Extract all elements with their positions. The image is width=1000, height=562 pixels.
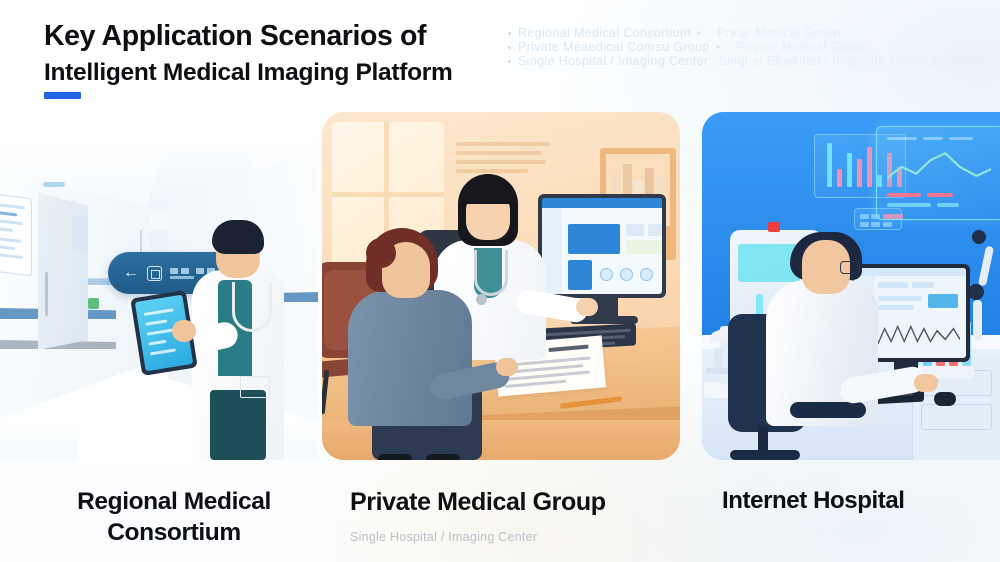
caption-private-medical-group: Private Medical Group Single Hospital / … [350, 486, 680, 544]
consultation-illustration [322, 112, 680, 460]
patient-figure [330, 216, 498, 460]
chair-base [730, 450, 800, 460]
ghost-line-1-secondary: Prvae Medical Group [717, 26, 841, 40]
caption-title-line2: Consortium [44, 517, 304, 548]
lab-technician [728, 212, 902, 460]
desktop-monitor [538, 194, 666, 298]
scenario-panels: ← + → [0, 112, 1000, 460]
ghost-line-1: Regional Medical Consortium • Prvae Medi… [508, 26, 978, 40]
corridor-door [38, 186, 88, 350]
department-sign-icon [147, 266, 162, 281]
microscope-objective-icon [714, 348, 723, 368]
page-title-line2: Intelligent Medical Imaging Platform [44, 59, 452, 88]
computer-mouse [934, 392, 956, 406]
ghost-line-1-primary: Regional Medical Consortium [518, 26, 691, 40]
doctor-with-tablet [170, 208, 306, 460]
bullet-icon [508, 46, 511, 49]
doctor-trousers [210, 390, 266, 460]
page-title: Key Application Scenarios of Intelligent… [44, 20, 452, 88]
arrow-left-icon: ← [123, 264, 139, 282]
ghost-line-2-primary: Private Méaedical Conrsu Group [518, 40, 710, 54]
coat-pocket [240, 376, 270, 398]
app-header-bar [542, 198, 662, 208]
wall-display-screen [0, 194, 32, 277]
wall-analytics-display [876, 126, 1000, 220]
dashboard-icon [600, 268, 613, 281]
line-chart-icon [887, 151, 991, 185]
panel-regional-medical-consortium[interactable]: ← + → [0, 112, 318, 460]
panel-captions: Regional Medical Consortium Private Medi… [0, 460, 1000, 562]
caption-title: Private Medical Group [350, 486, 680, 518]
caption-title: Internet Hospital [722, 486, 1000, 517]
wall-info-card [72, 215, 88, 251]
ghost-separator-icon: • [697, 26, 701, 40]
dashboard-icon [640, 268, 653, 281]
stethoscope-icon [232, 282, 272, 332]
highlight-chip [928, 294, 958, 308]
title-accent-bar [44, 92, 81, 99]
exit-sign-icon [88, 298, 99, 309]
door-lamp-icon [43, 182, 65, 187]
header: Key Application Scenarios of Intelligent… [0, 0, 1000, 112]
page-title-line1: Key Application Scenarios of [44, 20, 452, 54]
header-ghost-text: Regional Medical Consortium • Prvae Medi… [508, 26, 978, 68]
patient-hand [496, 358, 518, 376]
laboratory-illustration [702, 112, 1000, 460]
caption-subtitle: Single Hospital / Imaging Center [350, 530, 680, 544]
panel-internet-hospital[interactable] [702, 112, 1000, 460]
panel-private-medical-group[interactable] [322, 112, 680, 460]
patient-torso [348, 290, 472, 426]
caption-internet-hospital: Internet Hospital [722, 486, 1000, 517]
chair-armrest [790, 402, 866, 418]
ghost-separator-icon: • [716, 40, 720, 54]
ghost-line-2-secondary: Private Medical Group [736, 40, 867, 54]
ghost-line-3-primary: Single Hospital / Imaging Center [518, 54, 708, 68]
bullet-icon [508, 60, 511, 63]
monitor-screen [542, 198, 662, 294]
doctor-hair [212, 220, 264, 254]
dashboard-primary-card [568, 224, 620, 254]
bullet-icon [508, 32, 511, 35]
eyeglasses-icon [840, 261, 860, 274]
doctor-hand [172, 320, 196, 342]
ghost-line-3: Single Hospital / Imaging Center Singhet… [508, 54, 978, 68]
caption-title-line1: Regional Medical [44, 486, 304, 517]
sign-hanger-rod [140, 230, 142, 252]
ghost-line-2: Private Méaedical Conrsu Group • Private… [508, 40, 978, 54]
ghost-line-3-secondary: Singhet Eloskittel / Imtessita / metnutm… [718, 54, 989, 68]
hospital-corridor-illustration: ← + → [0, 112, 318, 460]
technician-hand [914, 374, 938, 392]
dashboard-icon [620, 268, 633, 281]
door-handle [45, 272, 48, 316]
patient-hair-bun [366, 238, 396, 268]
dashboard-secondary-card [568, 260, 592, 290]
doctor-hand [576, 298, 598, 316]
caption-regional-medical-consortium: Regional Medical Consortium [44, 486, 304, 549]
